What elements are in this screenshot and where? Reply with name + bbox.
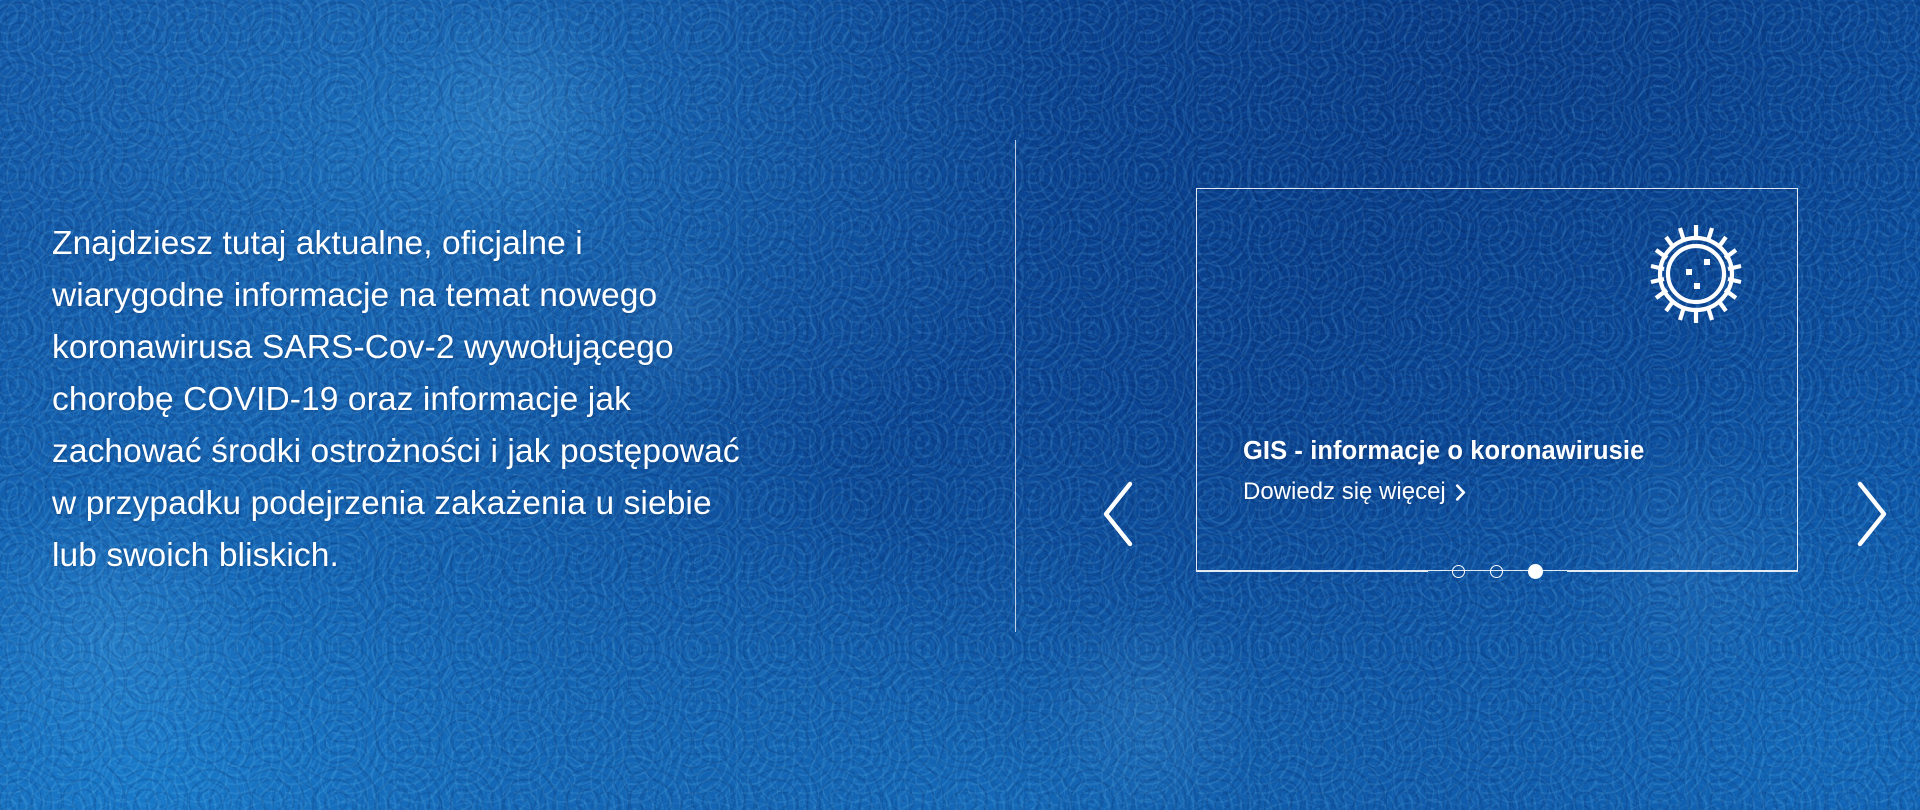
- chevron-right-small-icon: [1455, 484, 1466, 501]
- learn-more-label: Dowiedz się więcej: [1243, 478, 1446, 506]
- learn-more-link[interactable]: Dowiedz się więcej: [1243, 478, 1466, 506]
- pagination-dots: [1428, 559, 1567, 583]
- pagination-rule-right: [1567, 571, 1799, 572]
- pagination-rule-left: [1196, 571, 1428, 572]
- carousel: GIS - informacje o koronawirusie Dowiedz…: [1060, 140, 1900, 640]
- chevron-right-icon: [1842, 476, 1898, 552]
- card-body: GIS - informacje o koronawirusie Dowiedz…: [1243, 437, 1773, 506]
- intro-paragraph: Znajdziesz tutaj aktualne, oficjalne i w…: [52, 218, 752, 582]
- hero-banner: Znajdziesz tutaj aktualne, oficjalne i w…: [0, 0, 1920, 810]
- pagination-dot-3[interactable]: [1528, 564, 1543, 579]
- pagination-dot-2[interactable]: [1490, 565, 1503, 578]
- chevron-left-icon: [1092, 476, 1148, 552]
- virus-icon: [1642, 219, 1750, 327]
- card-title: GIS - informacje o koronawirusie: [1243, 437, 1773, 466]
- pagination-dot-1[interactable]: [1452, 565, 1465, 578]
- carousel-slide-card[interactable]: GIS - informacje o koronawirusie Dowiedz…: [1196, 188, 1798, 571]
- carousel-next-button[interactable]: [1842, 476, 1898, 552]
- carousel-pagination: [1196, 559, 1798, 583]
- carousel-prev-button[interactable]: [1092, 476, 1148, 552]
- vertical-divider: [1015, 140, 1016, 632]
